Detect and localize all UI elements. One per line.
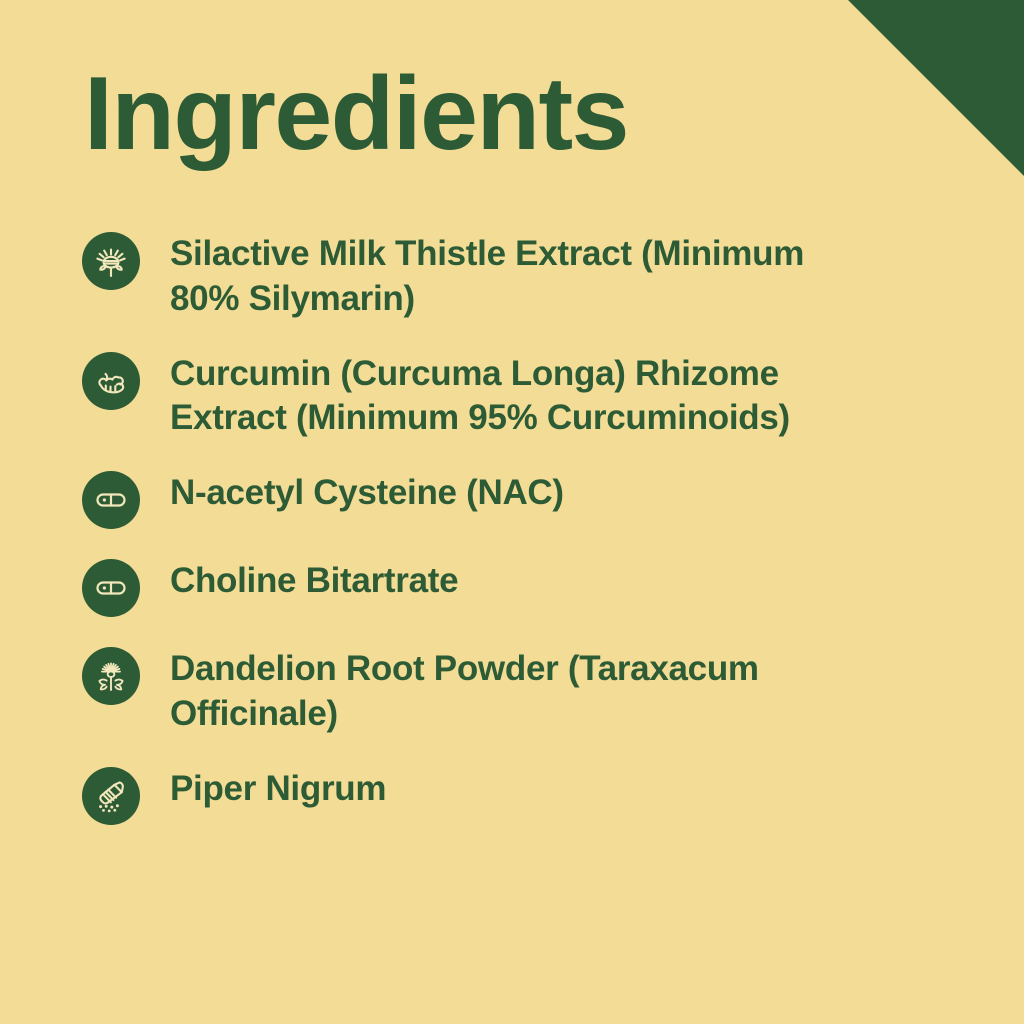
ingredient-label: Piper Nigrum: [170, 763, 386, 812]
pepper-grinder-icon: [82, 767, 140, 825]
thistle-icon: [82, 232, 140, 290]
list-item: Choline Bitartrate: [82, 555, 912, 617]
list-item: Piper Nigrum: [82, 763, 912, 825]
ingredient-label: Choline Bitartrate: [170, 555, 458, 604]
dandelion-icon: [82, 647, 140, 705]
ingredient-label: Silactive Milk Thistle Extract (Minimum …: [170, 228, 830, 322]
list-item: Silactive Milk Thistle Extract (Minimum …: [82, 228, 912, 322]
list-item: Curcumin (Curcuma Longa) Rhizome Extract…: [82, 348, 912, 442]
capsule-icon: [82, 559, 140, 617]
ingredient-list: Silactive Milk Thistle Extract (Minimum …: [82, 228, 912, 851]
page-title: Ingredients: [84, 62, 628, 166]
list-item: Dandelion Root Powder (Taraxacum Officin…: [82, 643, 912, 737]
corner-wedge-decoration: [848, 0, 1024, 176]
turmeric-rhizome-icon: [82, 352, 140, 410]
ingredients-panel: Ingredients: [0, 0, 1024, 1024]
ingredient-label: N-acetyl Cysteine (NAC): [170, 467, 564, 516]
ingredient-label: Curcumin (Curcuma Longa) Rhizome Extract…: [170, 348, 830, 442]
list-item: N-acetyl Cysteine (NAC): [82, 467, 912, 529]
capsule-icon: [82, 471, 140, 529]
ingredient-label: Dandelion Root Powder (Taraxacum Officin…: [170, 643, 830, 737]
